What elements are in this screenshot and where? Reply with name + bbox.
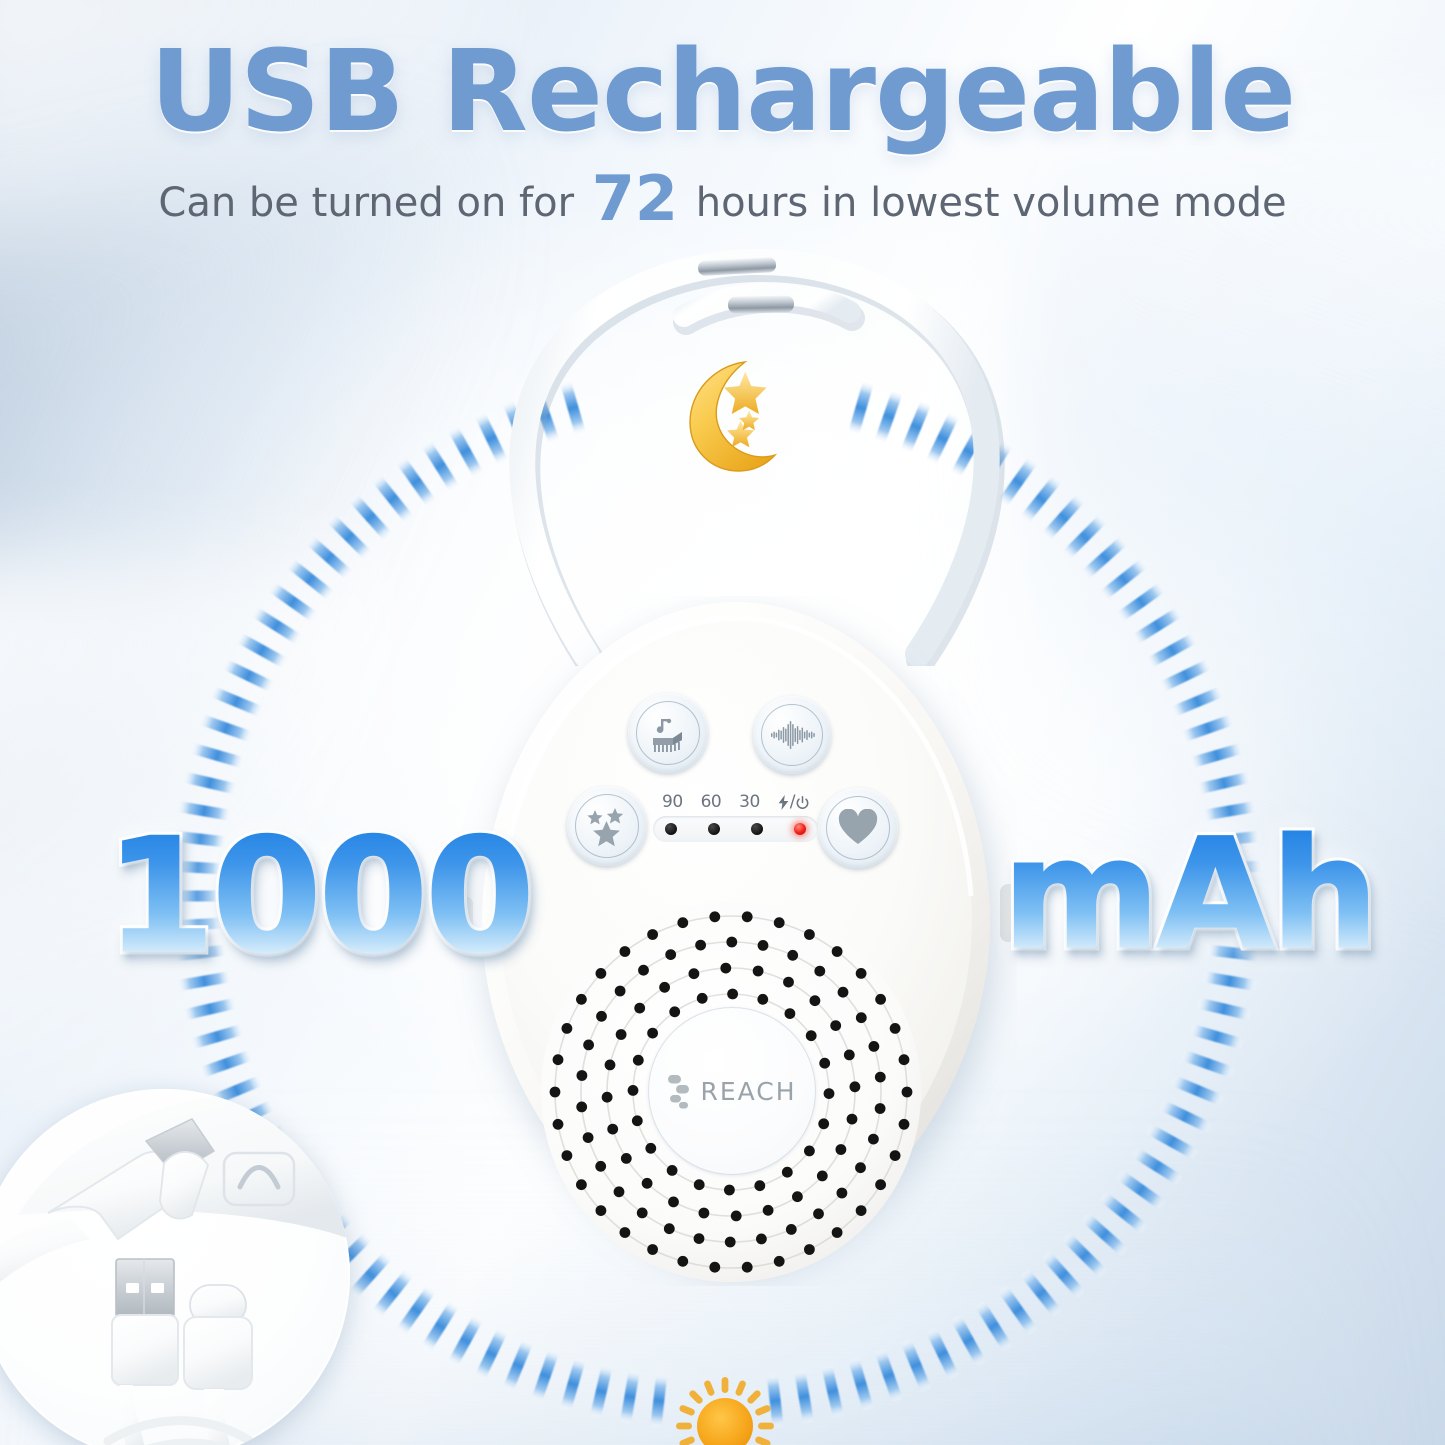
power-label-separator: / [790,794,795,811]
lightning-bolt-icon [778,795,789,810]
sound-waveform-icon [769,718,815,752]
white-noise-machine-device: 90 60 30 / [455,596,1017,1286]
page-subtitle: Can be turned on for 72 hours in lowest … [0,162,1445,235]
subtitle-after: hours in lowest volume mode [696,180,1287,226]
usb-inset-illustration [0,1089,350,1445]
timer-labels-row: 90 60 30 / [653,794,818,811]
led-60 [708,823,720,835]
timer-label-90: 90 [662,794,683,811]
timer-label-60: 60 [701,794,722,811]
subtitle-before: Can be turned on for [158,180,574,226]
led-power [794,823,806,835]
timer-label-30: 30 [739,794,760,811]
three-stars-icon [585,805,629,847]
subtitle-hours-value: 72 [587,162,683,235]
capacity-value: 1000 [106,818,532,974]
power-label: / [778,794,809,811]
capacity-unit: mAh [1003,820,1376,970]
reach-logo-mark-icon [667,1071,695,1111]
led-30 [751,823,763,835]
led-90 [665,823,677,835]
product-marketing-image: USB Rechargeable Can be turned on for 72… [0,0,1445,1445]
usb-cable-closeup-inset [0,1089,350,1445]
power-symbol-icon [796,796,809,810]
headline-block: USB Rechargeable Can be turned on for 72… [0,34,1445,235]
brand-badge: REACH [648,1007,816,1175]
page-title: USB Rechargeable [0,34,1445,150]
brand-name: REACH [700,1079,796,1104]
sun-icon [672,1373,778,1445]
music-button[interactable] [628,693,708,773]
sound-mode-button[interactable] [753,696,831,774]
timer-indicator-panel: 90 60 30 / [653,794,818,842]
piano-music-note-icon [647,712,689,754]
crescent-moon-stars-icon [657,348,793,484]
heartbeat-button[interactable] [818,788,898,868]
led-indicator-rail [653,816,818,842]
night-light-button[interactable] [567,786,647,866]
heart-icon [837,809,879,847]
